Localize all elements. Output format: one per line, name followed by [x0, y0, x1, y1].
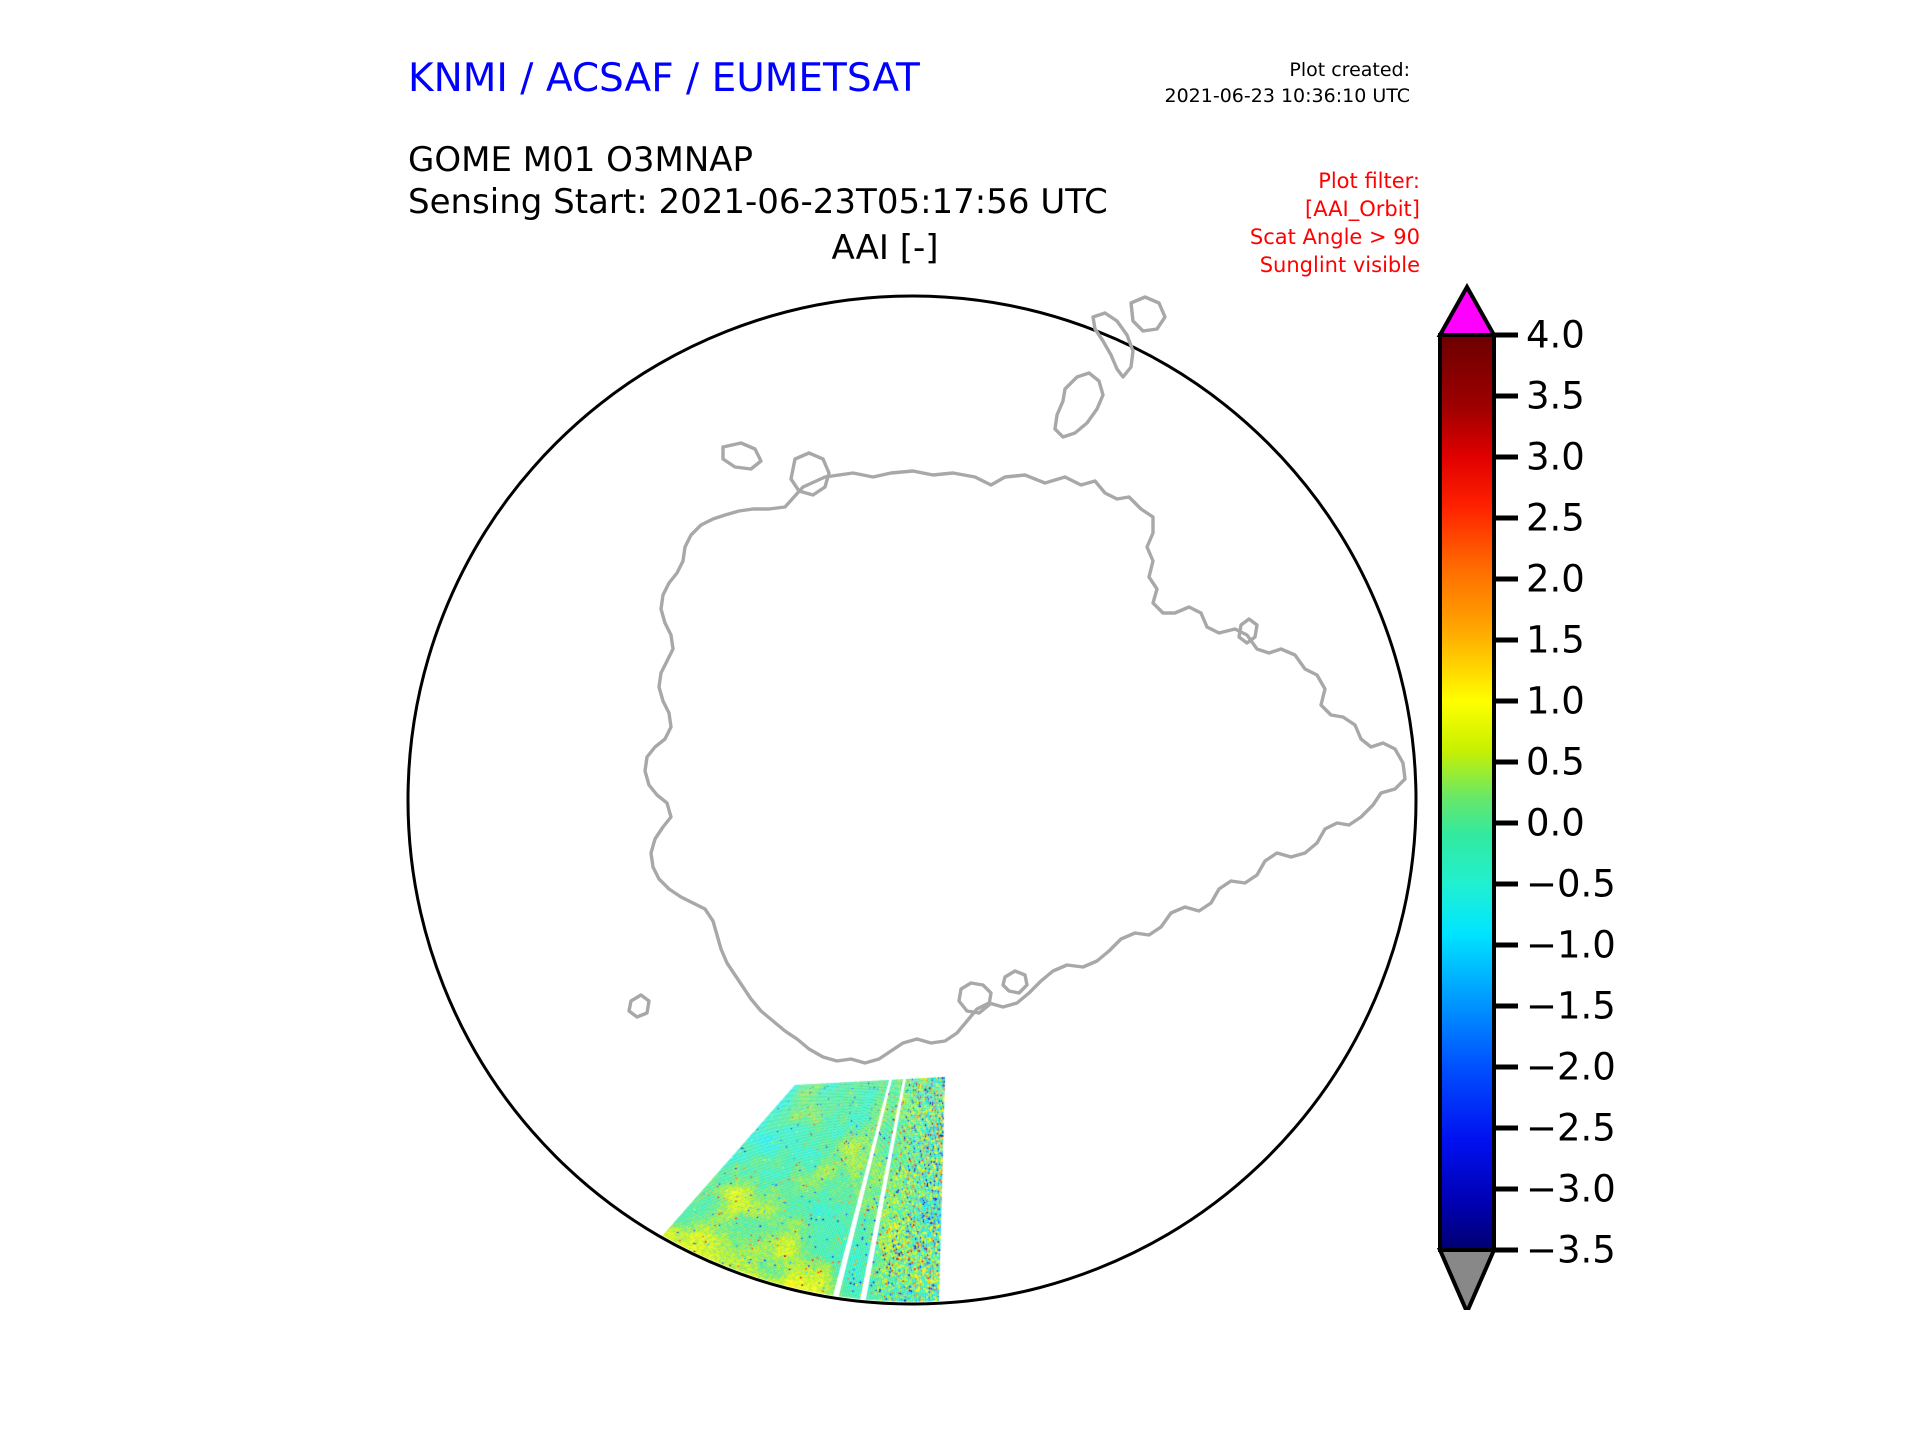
plot-filter-line-3: Sunglint visible	[1250, 252, 1420, 280]
colorbar-over-arrow	[1440, 287, 1494, 335]
colorbar-tick-label: −1.5	[1526, 985, 1616, 1028]
coastline-path	[1003, 971, 1027, 993]
plot-page: KNMI / ACSAF / EUMETSAT GOME M01 O3MNAP …	[0, 0, 1920, 1440]
coastline-path	[723, 443, 761, 469]
plot-filter-line-1: [AAI_Orbit]	[1250, 196, 1420, 224]
colorbar-tick-label: −1.0	[1526, 924, 1616, 967]
colorbar-tick-label: 0.5	[1526, 741, 1585, 784]
plot-created-value: 2021-06-23 10:36:10 UTC	[1165, 84, 1411, 110]
colorbar-tick-label: 1.5	[1526, 619, 1585, 662]
colorbar-tick-label: 3.0	[1526, 436, 1585, 479]
colorbar-under-arrow	[1440, 1250, 1494, 1310]
plot-filter-line-0: Plot filter:	[1250, 168, 1420, 196]
colorbar-body	[1440, 335, 1494, 1250]
instrument-title: GOME M01 O3MNAP	[408, 140, 753, 181]
polar-map	[405, 277, 1419, 1323]
colorbar: 4.03.53.02.52.01.51.00.50.0−0.5−1.0−1.5−…	[1430, 280, 1850, 1310]
globe-limb	[408, 296, 1416, 1304]
brand-title: KNMI / ACSAF / EUMETSAT	[408, 56, 920, 101]
plot-created-label: Plot created:	[1165, 58, 1411, 84]
coastline-path	[959, 983, 991, 1013]
colorbar-tick-label: −3.0	[1526, 1168, 1616, 1211]
colorbar-tick-label: 2.0	[1526, 558, 1585, 601]
coastline-path	[1239, 619, 1257, 643]
plot-created-block: Plot created: 2021-06-23 10:36:10 UTC	[1165, 58, 1411, 110]
colorbar-tick-label: −0.5	[1526, 863, 1616, 906]
sensing-start-label: Sensing Start: 2021-06-23T05:17:56 UTC	[408, 182, 1108, 222]
globe-overlay	[405, 277, 1419, 1323]
coastline-path	[1131, 297, 1165, 331]
colorbar-tick-label: 4.0	[1526, 314, 1585, 357]
coastline-path	[629, 995, 649, 1017]
plot-filter-block: Plot filter: [AAI_Orbit] Scat Angle > 90…	[1250, 168, 1420, 280]
coastline-path	[791, 453, 829, 495]
plot-filter-line-2: Scat Angle > 90	[1250, 224, 1420, 252]
colorbar-tick-label: 1.0	[1526, 680, 1585, 723]
coastline-path	[1055, 373, 1103, 437]
colorbar-tick-label: −2.0	[1526, 1046, 1616, 1089]
colorbar-tick-label: 2.5	[1526, 497, 1585, 540]
colorbar-tick-label: 3.5	[1526, 375, 1585, 418]
colorbar-tick-label: −2.5	[1526, 1107, 1616, 1150]
colorbar-tick-label: −3.5	[1526, 1229, 1616, 1272]
quantity-text: AAI [-]	[831, 228, 938, 268]
quantity-label: AAI [-]	[0, 228, 1890, 268]
colorbar-tick-label: 0.0	[1526, 802, 1585, 845]
colorbar-graphic	[1430, 280, 1850, 1310]
